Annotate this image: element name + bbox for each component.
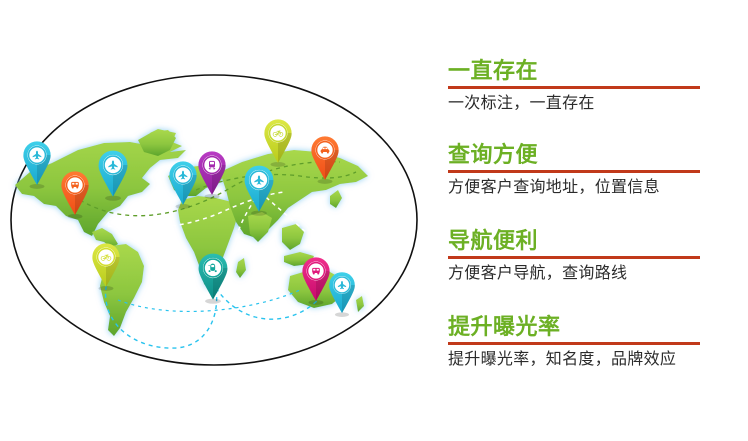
- feature-title: 提升曝光率: [448, 314, 738, 340]
- feature-description: 方便客户查询地址，位置信息: [448, 177, 738, 199]
- feature-underline: [448, 256, 700, 259]
- world-map-panel: [0, 0, 430, 441]
- feature-underline: [448, 170, 700, 173]
- feature-title: 导航便利: [448, 228, 738, 254]
- feature-list: 一直存在 一次标注，一直存在 查询方便 方便客户查询地址，位置信息 导航便利 方…: [430, 0, 748, 441]
- feature-description: 一次标注，一直存在: [448, 93, 738, 115]
- feature-description: 方便客户导航，查询路线: [448, 263, 738, 285]
- feature-title: 查询方便: [448, 142, 738, 168]
- feature-block-easy-navigation: 导航便利 方便客户导航，查询路线: [448, 228, 738, 285]
- world-map-graphic: [0, 0, 430, 441]
- feature-block-easy-search: 查询方便 方便客户查询地址，位置信息: [448, 142, 738, 199]
- feature-underline: [448, 342, 700, 345]
- promo-banner: 一直存在 一次标注，一直存在 查询方便 方便客户查询地址，位置信息 导航便利 方…: [0, 0, 748, 441]
- feature-description: 提升曝光率，知名度，品牌效应: [448, 349, 738, 371]
- feature-block-always-exists: 一直存在 一次标注，一直存在: [448, 58, 738, 115]
- feature-block-boost-exposure: 提升曝光率 提升曝光率，知名度，品牌效应: [448, 314, 738, 371]
- feature-title: 一直存在: [448, 58, 738, 84]
- feature-underline: [448, 86, 700, 89]
